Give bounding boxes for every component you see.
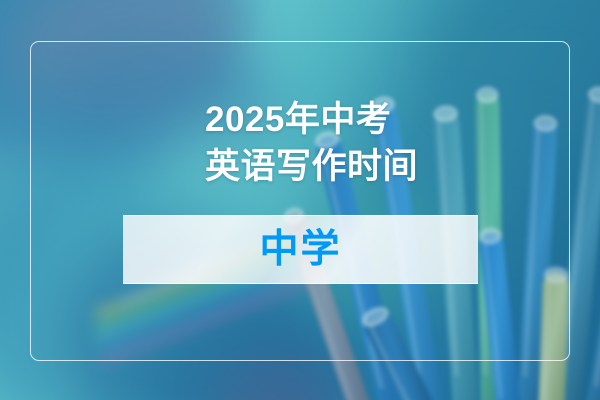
background-plastic-tubes	[0, 0, 600, 400]
background-blur-blobs	[0, 0, 600, 400]
category-label: 中学	[259, 230, 341, 269]
decorative-frame-border	[30, 41, 570, 361]
background-base-gradient	[0, 0, 600, 400]
article-cover-banner: 2025年中考 英语写作时间 中学	[0, 0, 600, 400]
banner-title-line-1: 2025年中考	[205, 96, 535, 143]
banner-title: 2025年中考 英语写作时间	[205, 96, 535, 190]
background-color-streaks	[0, 0, 600, 400]
background-color-wash	[0, 0, 600, 400]
banner-title-line-2: 英语写作时间	[205, 143, 535, 190]
category-band: 中学	[123, 215, 478, 284]
